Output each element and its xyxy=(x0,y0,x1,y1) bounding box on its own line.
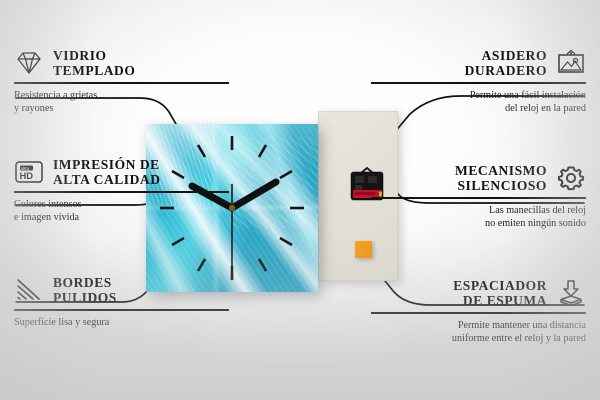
feature-espaciador-espuma: ESPACIADOR DE ESPUMA Permite mantener un… xyxy=(371,278,586,346)
feature-title-line1: IMPRESIÓN DE xyxy=(53,157,161,172)
feature-title-line2: DE ESPUMA xyxy=(453,293,547,308)
foam-spacer-pad xyxy=(355,241,372,258)
feature-title-line2: PULIDOS xyxy=(53,290,117,305)
feature-bordes-pulidos: BORDES PULIDOS Superficie lisa y segura xyxy=(14,275,229,329)
clock-center-cap xyxy=(229,205,235,211)
diamond-icon xyxy=(14,49,44,77)
feature-description: Colores intensos e imagen vívida xyxy=(14,198,229,225)
feature-divider xyxy=(14,82,229,84)
foam-spacer-arrow-icon xyxy=(556,279,586,307)
tick-5 xyxy=(259,259,266,271)
feature-description: Resistencia a grietas y rayones xyxy=(14,89,229,116)
ultra-hd-icon: ultra HD xyxy=(14,158,44,186)
tick-7 xyxy=(198,259,205,271)
tick-8 xyxy=(172,238,184,245)
feature-description: Permite mantener una distancia uniforme … xyxy=(371,319,586,346)
feature-divider xyxy=(14,191,229,193)
feature-divider xyxy=(14,309,229,311)
tick-4 xyxy=(280,238,292,245)
tick-1 xyxy=(259,145,266,157)
feature-title-line1: BORDES xyxy=(53,275,117,290)
feature-mecanismo-silencioso: MECANISMO SILENCIOSO Las manecillas del … xyxy=(371,163,586,231)
feature-title-line2: DURADERO xyxy=(465,63,547,78)
feature-title-line2: ALTA CALIDAD xyxy=(53,172,161,187)
feature-description: Las manecillas del reloj no emiten ningú… xyxy=(371,204,586,231)
gear-icon xyxy=(556,164,586,192)
feature-title-line1: MECANISMO xyxy=(455,163,547,178)
infographic-stage: VIDRIO TEMPLADO Resistencia a grietas y … xyxy=(0,0,600,400)
feature-title-line2: TEMPLADO xyxy=(53,63,135,78)
minute-hand xyxy=(232,182,276,208)
feature-impresion-alta-calidad: ultra HD IMPRESIÓN DE ALTA CALIDAD Color… xyxy=(14,157,229,225)
feature-title-line1: ASIDERO xyxy=(465,48,547,63)
feature-divider xyxy=(371,197,586,199)
svg-text:HD: HD xyxy=(20,170,34,181)
feature-description: Superficie lisa y segura xyxy=(14,316,229,330)
feature-divider xyxy=(371,82,586,84)
feature-title-line2: SILENCIOSO xyxy=(455,178,547,193)
feature-description: Permite una fácil instalación del reloj … xyxy=(371,89,586,116)
framed-picture-hanging-icon xyxy=(556,49,586,77)
tick-11 xyxy=(198,145,205,157)
feature-asidero-duradero: ASIDERO DURADERO Permite una fácil insta… xyxy=(371,48,586,116)
feature-vidrio-templado: VIDRIO TEMPLADO Resistencia a grietas y … xyxy=(14,48,229,116)
polished-edge-icon xyxy=(14,276,44,304)
feature-divider xyxy=(371,312,586,314)
feature-title-line1: ESPACIADOR xyxy=(453,278,547,293)
tick-2 xyxy=(280,171,292,178)
feature-title-line1: VIDRIO xyxy=(53,48,135,63)
